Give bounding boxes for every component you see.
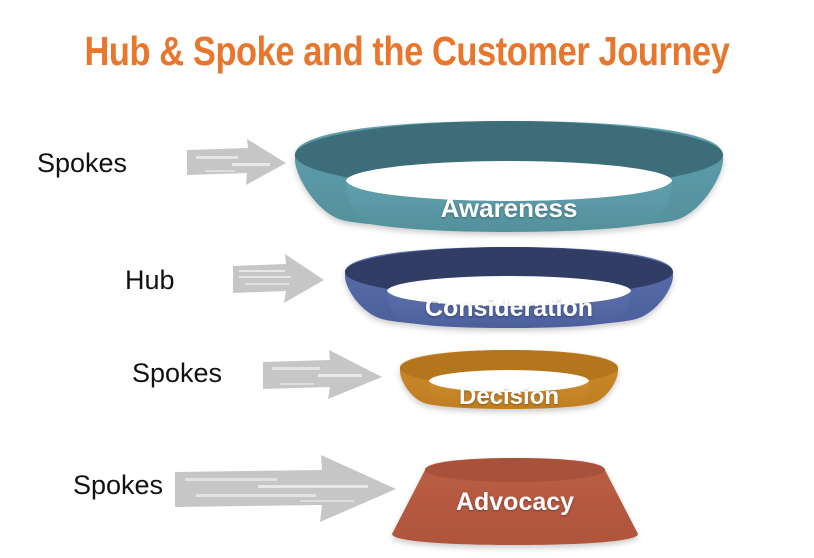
side-label-spokes-advocacy: Spokes [73, 470, 163, 501]
side-label-spokes-awareness: Spokes [37, 148, 127, 179]
decision-rim [400, 350, 618, 386]
arrow-3-streak-b [318, 374, 362, 377]
arrow-2-streak-a [239, 270, 285, 272]
arrow-1-shape [187, 139, 286, 185]
arrow-2-streak-c [245, 283, 289, 285]
arrow-1-streak-a [196, 156, 238, 159]
arrow-right-icon-spokes-awareness[interactable] [187, 139, 286, 185]
funnel-label-decision: Decision [309, 383, 709, 411]
arrow-2-streak-b [239, 276, 291, 278]
arrow-1-streak-c [205, 170, 235, 172]
arrow-4-streak-a [185, 478, 277, 481]
arrow-4-streak-c [196, 494, 316, 497]
funnel-label-awareness: Awareness [309, 193, 709, 224]
consideration-rim [345, 247, 673, 297]
arrow-1-streak-b [232, 163, 270, 166]
side-label-hub-consideration: Hub [125, 265, 175, 296]
side-label-spokes-decision: Spokes [132, 358, 222, 389]
advocacy-rim [425, 458, 605, 482]
arrow-3-streak-a [272, 367, 320, 370]
funnel-label-advocacy: Advocacy [315, 488, 715, 517]
funnel-label-consideration: Consideration [309, 294, 709, 323]
page-title: Hub & Spoke and the Customer Journey [65, 28, 749, 75]
slide-canvas: Hub & Spoke and the Customer Journey [0, 0, 814, 558]
awareness-rim [295, 121, 723, 189]
